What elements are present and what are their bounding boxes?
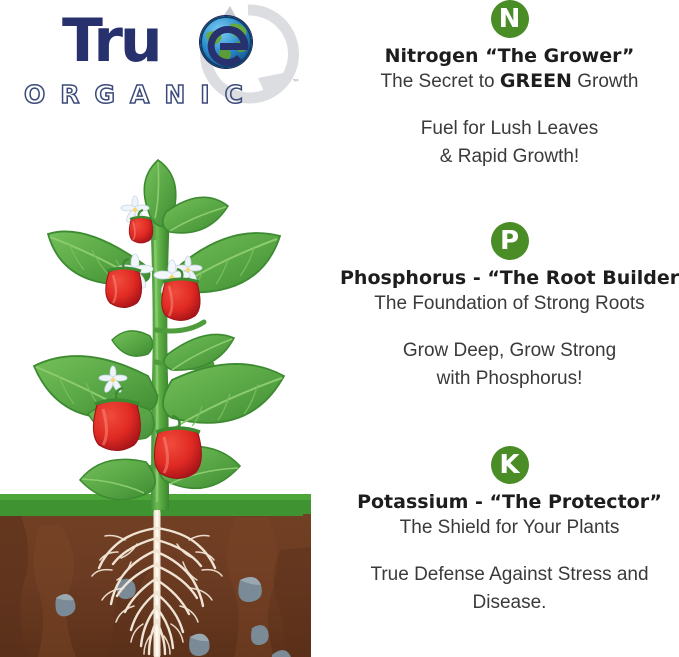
potassium-subtitle: The Shield for Your Plants xyxy=(340,516,679,539)
phosphorus-subtitle: The Foundation of Strong Roots xyxy=(340,292,679,315)
brand-logo: Tru xyxy=(0,0,320,118)
nitrogen-subtitle-before: The Secret to xyxy=(381,71,500,92)
phosphorus-title: Phosphorus - “The Root Builder” xyxy=(340,267,679,289)
nutrient-block-potassium: K Potassium - “The Protector” The Shield… xyxy=(340,446,679,616)
phosphorus-body: Grow Deep, Grow Strong with Phosphorus! xyxy=(340,337,679,392)
phosphorus-badge-letter: P xyxy=(500,228,519,254)
phosphorus-body-line-1: Grow Deep, Grow Strong xyxy=(340,337,679,365)
nitrogen-body: Fuel for Lush Leaves & Rapid Growth! xyxy=(340,115,679,170)
potassium-title: Potassium - “The Protector” xyxy=(340,491,679,513)
phosphorus-subtitle-before: The Foundation of Strong Roots xyxy=(374,293,644,314)
potassium-subtitle-before: The Shield for Your Plants xyxy=(400,517,620,538)
nutrients-panel: N Nitrogen “The Grower” The Secret to GR… xyxy=(340,0,679,657)
nitrogen-body-line-1: Fuel for Lush Leaves xyxy=(340,115,679,143)
brand-globe-letter-e xyxy=(206,22,250,66)
nitrogen-subtitle-emphasis: GREEN xyxy=(500,70,572,92)
nitrogen-badge-letter: N xyxy=(499,6,521,32)
infographic-page: Tru xyxy=(0,0,679,657)
potassium-badge-icon: K xyxy=(491,446,529,484)
nitrogen-badge-icon: N xyxy=(491,0,529,38)
left-panel: Tru xyxy=(0,0,340,657)
nutrient-block-phosphorus: P Phosphorus - “The Root Builder” The Fo… xyxy=(340,222,679,392)
phosphorus-body-line-2: with Phosphorus! xyxy=(340,365,679,393)
nitrogen-subtitle-after: Growth xyxy=(572,71,639,92)
trademark-symbol: ™ xyxy=(292,78,300,87)
nitrogen-subtitle: The Secret to GREEN Growth xyxy=(340,70,679,93)
brand-wordmark-text: Tru xyxy=(62,6,160,76)
brand-wordmark: Tru xyxy=(62,10,312,72)
nutrient-block-nitrogen: N Nitrogen “The Grower” The Secret to GR… xyxy=(340,0,679,170)
nitrogen-title: Nitrogen “The Grower” xyxy=(340,45,679,67)
potassium-badge-letter: K xyxy=(499,452,519,478)
phosphorus-badge-icon: P xyxy=(491,222,529,260)
potassium-body: True Defense Against Stress and Disease. xyxy=(340,561,679,616)
nitrogen-body-line-2: & Rapid Growth! xyxy=(340,143,679,171)
pepper-plant-illustration xyxy=(0,150,320,657)
potassium-body-line-2: Disease. xyxy=(340,589,679,617)
potassium-body-line-1: True Defense Against Stress and xyxy=(340,561,679,589)
brand-tagline: ORGANIC xyxy=(24,80,296,110)
